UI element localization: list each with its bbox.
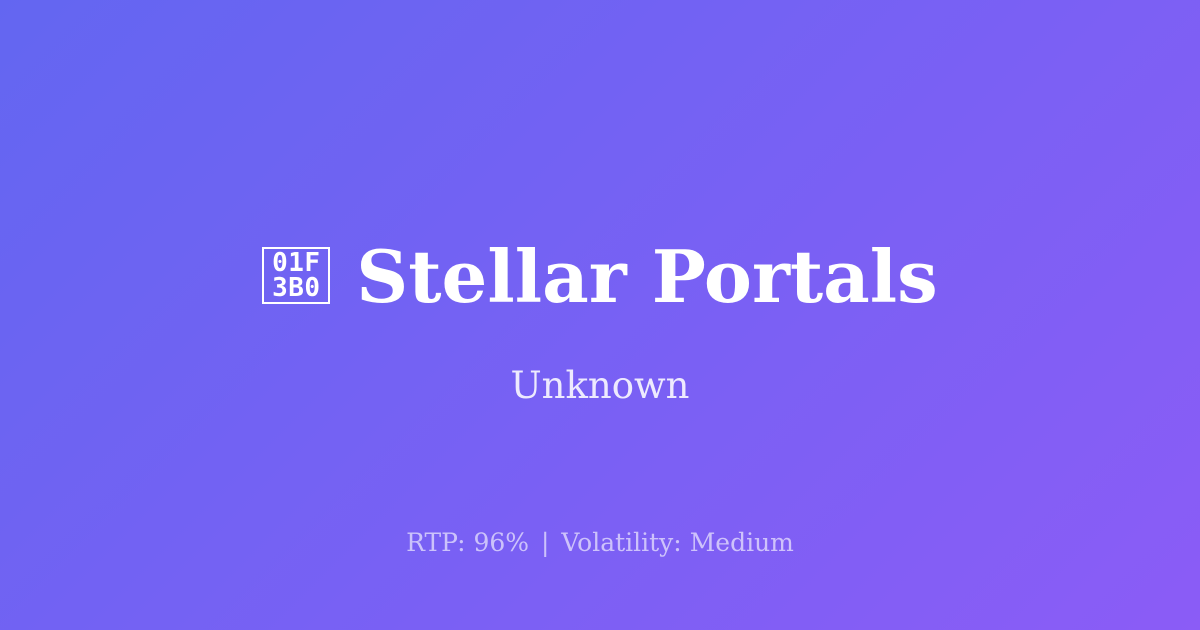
volatility-label: Volatility: — [561, 528, 681, 557]
page-subtitle: Unknown — [0, 363, 1200, 409]
rtp-value: 96% — [473, 528, 529, 557]
page-title-text: Stellar Portals — [356, 240, 937, 315]
rtp-label: RTP: — [406, 528, 465, 557]
tofu-codepoint-top: 01F — [272, 251, 320, 276]
tofu-codepoint-bottom: 3B0 — [272, 276, 320, 301]
volatility-value: Medium — [690, 528, 794, 557]
page-title: 01F 3B0 Stellar Portals — [262, 240, 937, 315]
slot-machine-icon: 01F 3B0 — [262, 247, 330, 304]
og-share-card: 01F 3B0 Stellar Portals Unknown RTP: 96%… — [0, 0, 1200, 630]
meta-separator: | — [537, 528, 553, 557]
game-meta-line: RTP: 96% | Volatility: Medium — [0, 526, 1200, 559]
